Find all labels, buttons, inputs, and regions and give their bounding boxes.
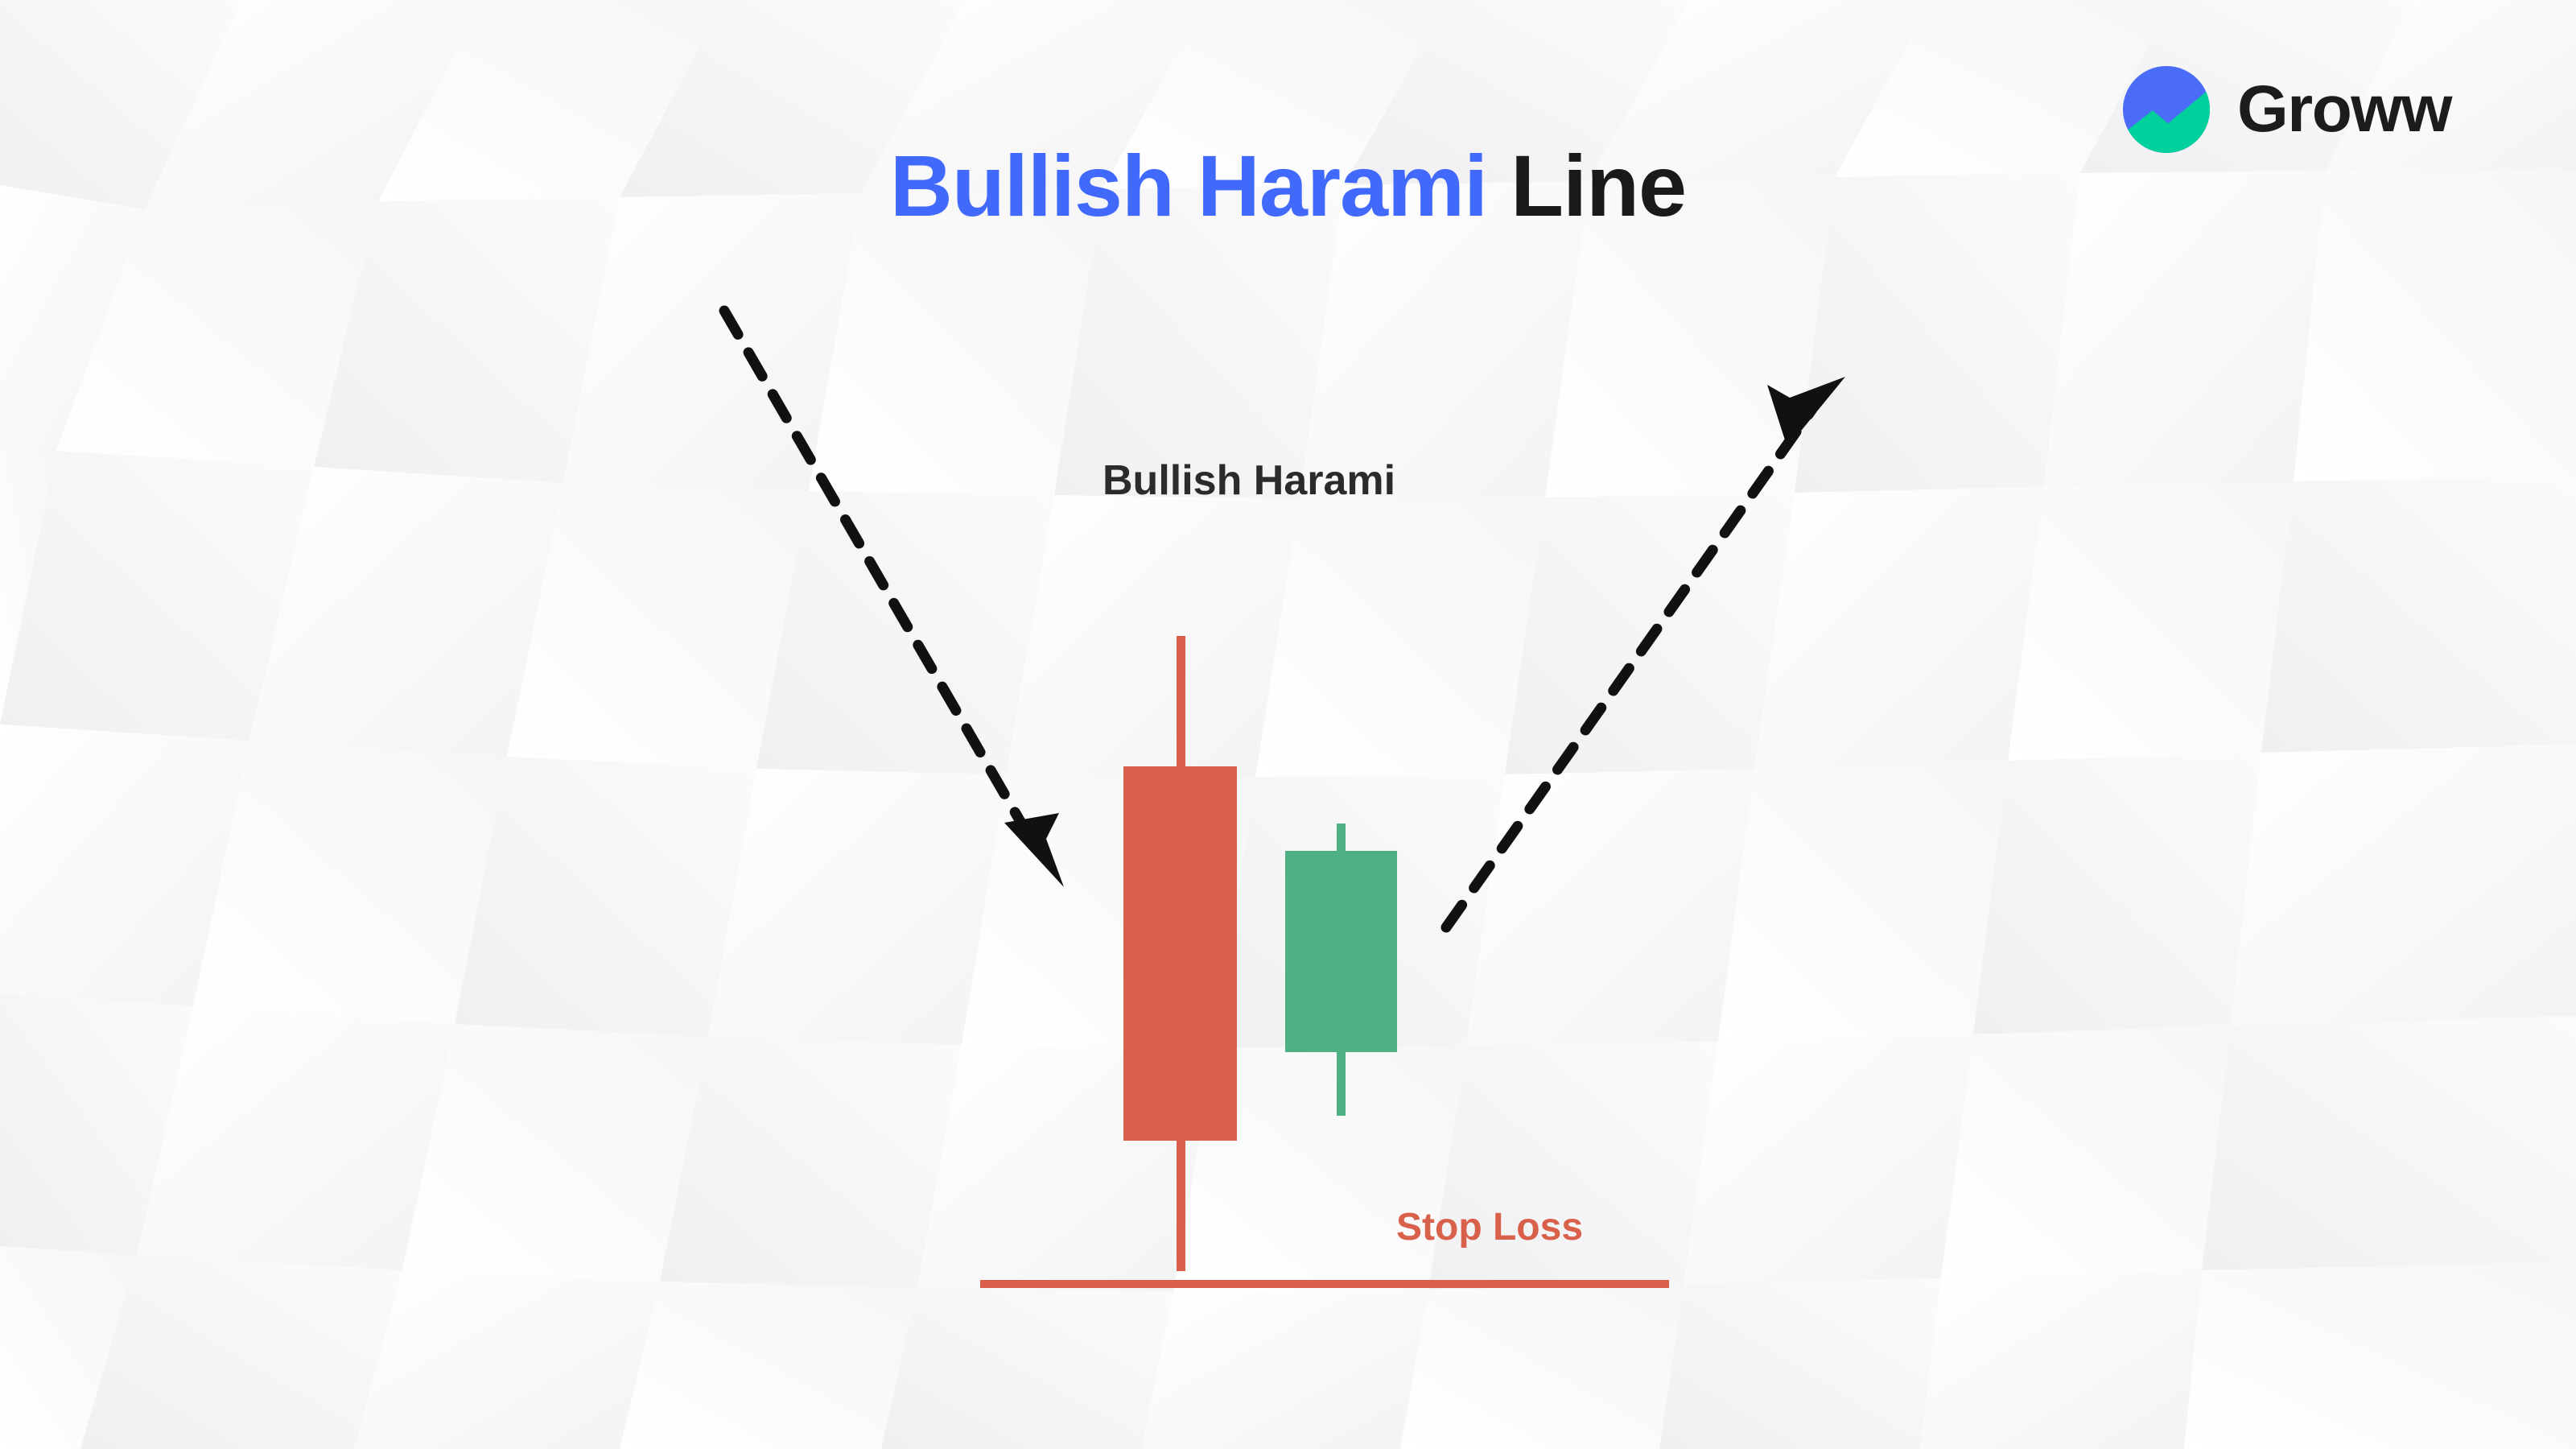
bearish-candle-upper-wick xyxy=(1177,636,1185,769)
brand-logo: Groww xyxy=(2123,66,2451,153)
stop-loss-label: Stop Loss xyxy=(1396,1205,1583,1249)
bullish-candle-body xyxy=(1285,851,1397,1052)
bearish-candle-lower-wick xyxy=(1177,1138,1185,1271)
bullish-candle-lower-wick xyxy=(1337,1050,1346,1116)
pattern-label: Bullish Harami xyxy=(1103,456,1395,505)
infographic-canvas: Bullish Harami Line Groww Bullish Harami… xyxy=(0,0,2576,1449)
bearish-candle-body xyxy=(1123,766,1237,1141)
groww-circle-chart-icon xyxy=(2123,66,2210,153)
page-title-plain: Line xyxy=(1487,137,1686,234)
bullish-candle-upper-wick xyxy=(1337,824,1346,854)
stop-loss-line xyxy=(980,1280,1669,1288)
page-title-accent: Bullish Harami xyxy=(890,137,1487,234)
dashed-down-right-arrow-icon xyxy=(724,311,1064,887)
dashed-up-right-arrow-icon xyxy=(1446,377,1845,927)
brand-wordmark: Groww xyxy=(2237,76,2451,142)
